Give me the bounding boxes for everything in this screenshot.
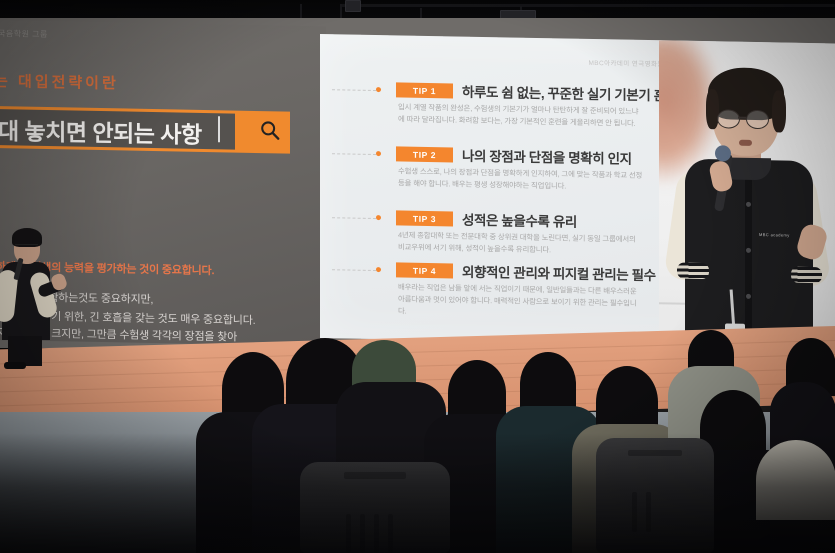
eyeglasses-lens-left [717,109,740,128]
microphone-head [715,145,731,161]
bullet-dot [376,87,381,92]
jacket-button [746,248,751,253]
bullet-dot [376,215,381,220]
bullet-dot [376,151,381,156]
tip-badge: TIP 1 [396,82,453,98]
bullet-dot [376,267,381,272]
speaker-hair-side [772,90,786,132]
ceiling-fixture [345,0,361,12]
tip-body: 배우라는 직업은 남들 앞에 서는 직업이기 때문에, 일반일들과는 다른 배우… [398,281,644,321]
tip-body: 입시 계열 작품의 완성은, 수험생의 기본기가 얼마나 탄탄하게 잘 준비되어… [398,101,644,129]
connector-line [332,89,376,91]
projected-main-slide: MBC아카데미 연극영화원 광주 송정점 대표 TIP 1 하루도 쉼 없는, … [320,34,835,347]
eyeglasses-bridge [738,117,746,119]
tip-body: 4년제 종합대학 또는 전문대학 중 상위권 대학을 노린다면, 실기 동일 그… [398,229,644,257]
tip-badge: TIP 4 [396,262,453,278]
tip-body: 수험생 스스로, 나의 장점과 단점을 명확하게 인지하여, 그에 맞는 작품과… [398,165,644,193]
jacket-logo: MBC academy [759,232,790,238]
tip-title: 나의 장점과 단점을 명확히 인지 [462,145,632,168]
speaker-hair-side [706,89,719,129]
text-caret [218,116,220,142]
tip-item-2: TIP 2 나의 장점과 단점을 명확히 인지 수험생 스스로, 나의 장점과 … [320,142,650,148]
presenter-eyeglasses [15,244,38,251]
tip-badge: TIP 2 [396,146,453,162]
left-panel-brand: 국음학원 그룹 [0,28,48,40]
presentation-room-scene: 국음학원 그룹 는 대입전략이란 대 놓치면 안되는 사항 확하게, 수험생의 … [0,0,835,553]
eyeglasses-lens-right [746,110,769,129]
live-camera-feed: MBC academy [659,40,835,347]
magnifier-icon [259,119,281,141]
connector-line [332,269,376,271]
tip-item-4: TIP 4 외향적인 관리와 피지컬 관리는 필수 배우라는 직업은 남들 앞에… [320,258,650,264]
jacket-button [746,202,751,207]
connector-line [332,153,376,155]
presenter-shoe [4,362,26,369]
left-panel-eyebrow: 는 대입전략이란 [0,70,119,93]
tip-badge: TIP 3 [396,210,453,226]
tip-title: 외향적인 관리와 피지컬 관리는 필수 [462,261,656,285]
truss-bar [340,4,835,7]
foreground-shadow [0,433,835,553]
left-panel-headline: 대 놓치면 안되는 사항 [0,112,202,150]
jacket-cuff-right [791,267,822,284]
connector-line [332,217,376,219]
jacket-cuff-left [677,263,709,280]
speaker-mouth [739,140,752,146]
tip-title: 하루도 쉼 없는, 꾸준한 실기 기본기 훈련 [462,81,678,105]
tip-item-1: TIP 1 하루도 쉼 없는, 꾸준한 실기 기본기 훈련 입시 계열 작품의 … [320,78,650,84]
tip-item-3: TIP 3 성적은 높을수록 유리 4년제 종합대학 또는 전문대학 중 상위권… [320,206,650,212]
tip-title: 성적은 높을수록 유리 [462,209,577,231]
jacket-button [746,294,751,299]
live-presenter [0,228,64,356]
jacket-placket [745,176,752,342]
truss-drop [300,4,302,18]
